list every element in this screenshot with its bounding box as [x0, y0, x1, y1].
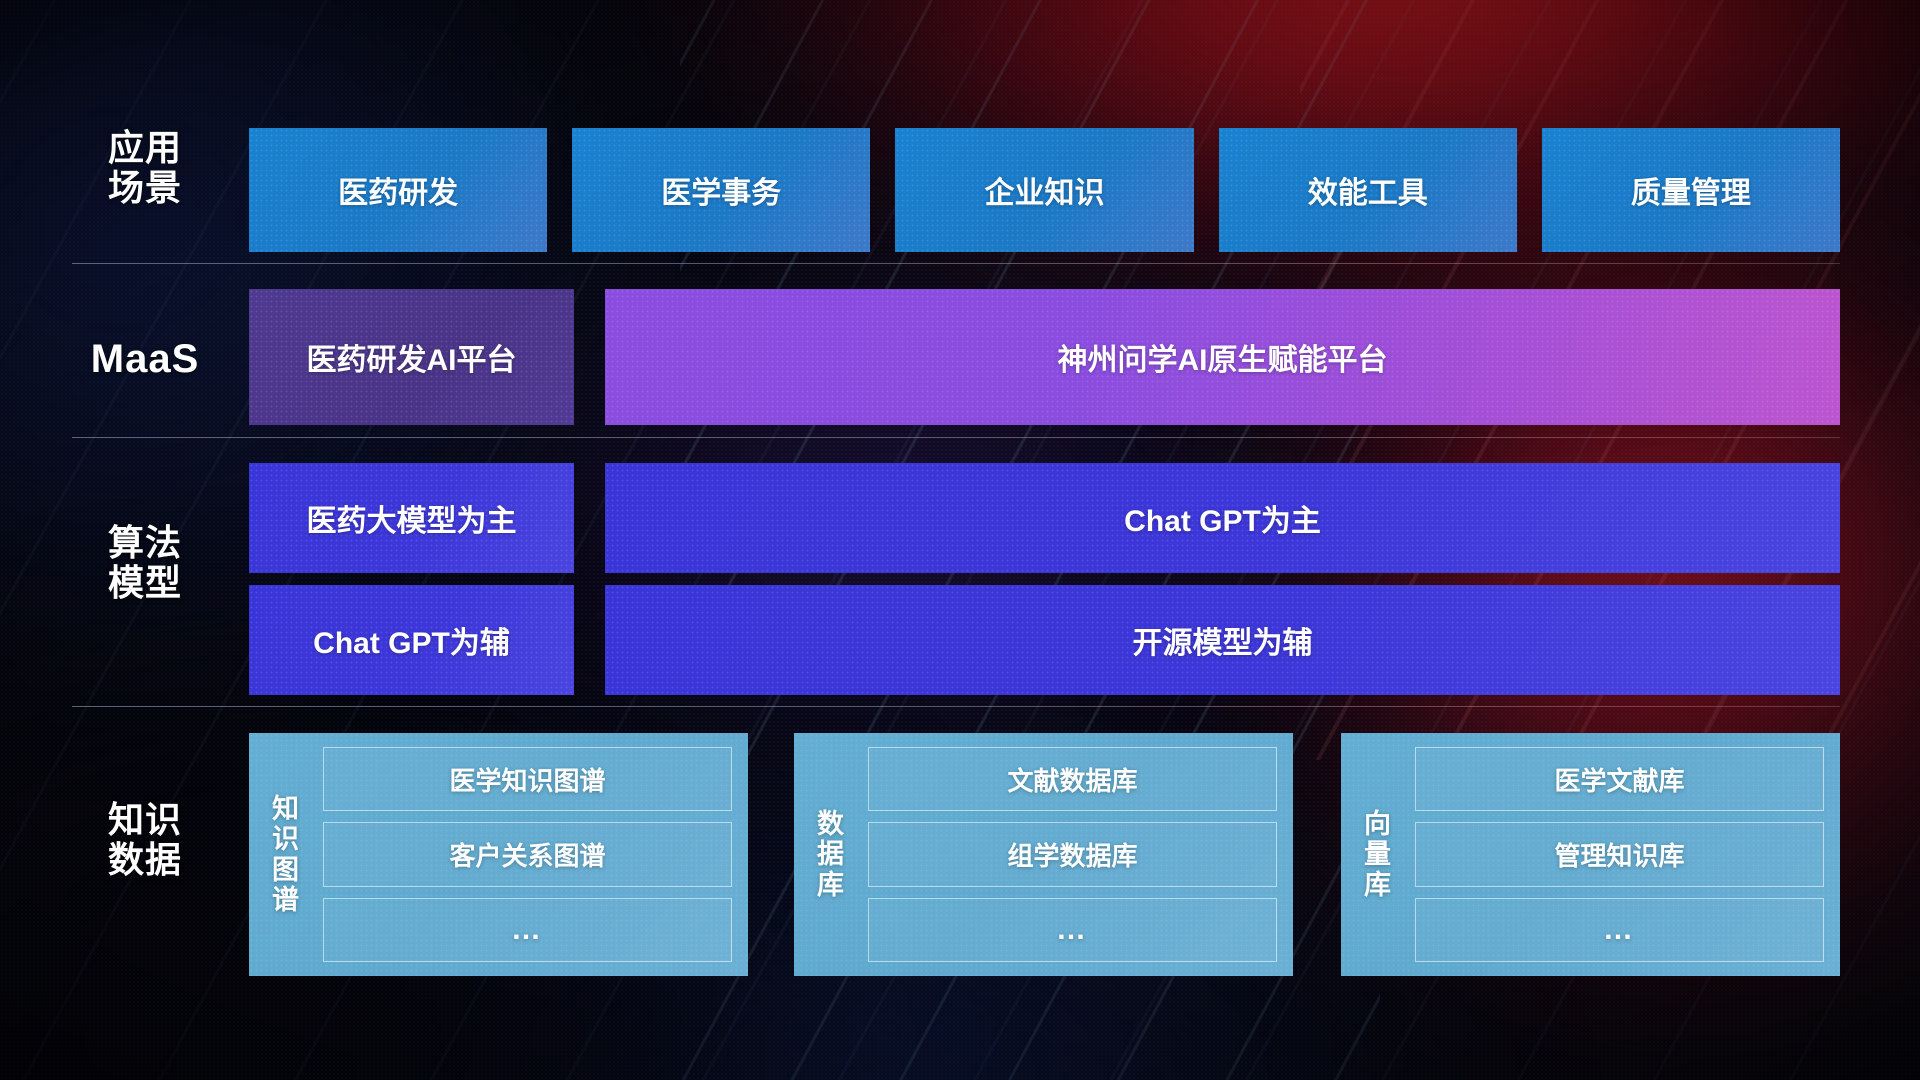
row-application-scenario: 医药研发 医学事务 企业知识 效能工具 质量管理 — [249, 128, 1840, 252]
knowledge-item-vector-2[interactable]: … — [1415, 898, 1824, 962]
knowledge-item-database-1[interactable]: 组学数据库 — [868, 822, 1277, 886]
divider-1 — [72, 263, 1840, 264]
app-box-2[interactable]: 企业知识 — [895, 128, 1193, 252]
knowledge-group-graph-items: 医学知识图谱 客户关系图谱 … — [323, 747, 732, 962]
architecture-diagram: 应用 场景 医药研发 医学事务 企业知识 效能工具 质量管理 MaaS 医药研发… — [0, 0, 1920, 1080]
app-box-0[interactable]: 医药研发 — [249, 128, 547, 252]
knowledge-group-vector-items: 医学文献库 管理知识库 … — [1415, 747, 1824, 962]
algo-box-pharma-main-label: 医药大模型为主 — [307, 496, 517, 540]
row-label-knowledge-data: 知识 数据 — [72, 800, 218, 881]
knowledge-item-vector-1[interactable]: 管理知识库 — [1415, 822, 1824, 886]
app-box-2-label: 企业知识 — [985, 168, 1105, 212]
maas-box-enable-platform[interactable]: 神州问学AI原生赋能平台 — [605, 289, 1840, 425]
knowledge-group-database[interactable]: 数据库 文献数据库 组学数据库 … — [794, 733, 1293, 976]
knowledge-item-graph-1[interactable]: 客户关系图谱 — [323, 822, 732, 886]
algo-box-pharma-main[interactable]: 医药大模型为主 — [249, 463, 574, 573]
knowledge-item-database-2[interactable]: … — [868, 898, 1277, 962]
row-label-maas: MaaS — [72, 337, 218, 382]
knowledge-item-graph-0[interactable]: 医学知识图谱 — [323, 747, 732, 811]
app-box-3[interactable]: 效能工具 — [1219, 128, 1517, 252]
row-label-algorithm-model: 算法 模型 — [72, 523, 218, 604]
algo-box-chatgpt-aux[interactable]: Chat GPT为辅 — [249, 585, 574, 695]
app-box-4[interactable]: 质量管理 — [1542, 128, 1840, 252]
algo-box-opensource-aux-label: 开源模型为辅 — [1133, 618, 1313, 662]
divider-3 — [72, 706, 1840, 707]
knowledge-group-vector[interactable]: 向量库 医学文献库 管理知识库 … — [1341, 733, 1840, 976]
knowledge-item-vector-0[interactable]: 医学文献库 — [1415, 747, 1824, 811]
app-box-4-label: 质量管理 — [1631, 168, 1751, 212]
app-box-0-label: 医药研发 — [338, 168, 458, 212]
knowledge-group-graph-title-text: 知识图谱 — [272, 794, 300, 915]
maas-box-enable-platform-label: 神州问学AI原生赋能平台 — [1058, 335, 1388, 379]
algo-box-chatgpt-main-label: Chat GPT为主 — [1124, 496, 1321, 540]
app-box-1[interactable]: 医学事务 — [572, 128, 870, 252]
knowledge-item-graph-2[interactable]: … — [323, 898, 732, 962]
knowledge-group-database-title-text: 数据库 — [817, 809, 845, 900]
row-algorithm-model: 医药大模型为主 Chat GPT为主 Chat GPT为辅 开源模型为辅 — [249, 463, 1840, 695]
app-box-3-label: 效能工具 — [1308, 168, 1428, 212]
knowledge-group-database-items: 文献数据库 组学数据库 … — [868, 747, 1277, 962]
row-label-application-scenario: 应用 场景 — [72, 128, 218, 209]
knowledge-group-database-title: 数据库 — [808, 747, 854, 962]
knowledge-group-graph[interactable]: 知识图谱 医学知识图谱 客户关系图谱 … — [249, 733, 748, 976]
knowledge-item-database-0[interactable]: 文献数据库 — [868, 747, 1277, 811]
knowledge-group-graph-title: 知识图谱 — [263, 747, 309, 962]
maas-box-pharma-platform-label: 医药研发AI平台 — [307, 335, 517, 379]
app-box-1-label: 医学事务 — [661, 168, 781, 212]
knowledge-group-vector-title-text: 向量库 — [1364, 809, 1392, 900]
algo-box-opensource-aux[interactable]: 开源模型为辅 — [605, 585, 1840, 695]
knowledge-group-vector-title: 向量库 — [1355, 747, 1401, 962]
row-maas: 医药研发AI平台 神州问学AI原生赋能平台 — [249, 289, 1840, 425]
divider-2 — [72, 437, 1840, 438]
maas-box-pharma-platform[interactable]: 医药研发AI平台 — [249, 289, 574, 425]
algo-box-chatgpt-aux-label: Chat GPT为辅 — [313, 618, 510, 662]
algo-box-chatgpt-main[interactable]: Chat GPT为主 — [605, 463, 1840, 573]
